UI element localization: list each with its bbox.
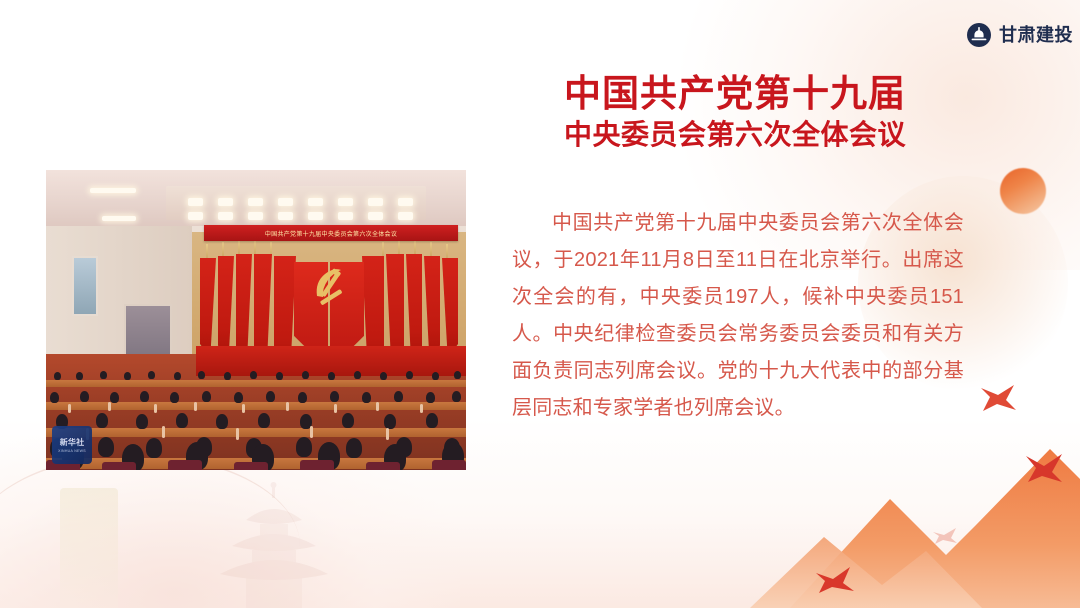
body-paragraph: 中国共产党第十九届中央委员会第六次全体会议，于2021年11月8日至11日在北京… <box>512 205 964 427</box>
meeting-photograph: 中国共产党第十九届中央委员会第六次全体会议 <box>46 170 466 470</box>
photo-wall-screen <box>72 256 98 316</box>
slide-title: 中国共产党第十九届 中央委员会第六次全体会议 <box>500 72 970 152</box>
origami-bird-icon <box>932 527 958 550</box>
origami-bird-icon <box>978 382 1018 419</box>
xinhua-news-watermark: 新华社 XINHUA NEWS <box>52 426 92 464</box>
photo-stage-banner: 中国共产党第十九届中央委员会第六次全体会议 <box>204 225 458 241</box>
photo-ceiling-panel <box>166 186 426 220</box>
origami-bird-icon <box>1022 452 1066 491</box>
watermark-english-label: XINHUA NEWS <box>58 449 86 453</box>
ganjiantou-circle-logo-icon <box>966 22 992 48</box>
presentation-slide: 甘肃建投 <box>0 0 1080 608</box>
hammer-and-sickle-emblem-icon <box>308 262 350 306</box>
pillar-watermark-decoration <box>60 488 118 608</box>
origami-bird-icon <box>814 565 856 600</box>
brand-logo[interactable]: 甘肃建投 <box>966 22 1073 48</box>
title-line-one: 中国共产党第十九届 <box>500 72 970 116</box>
sun-circle-icon <box>1000 168 1046 214</box>
title-line-two: 中央委员会第六次全体会议 <box>500 118 970 152</box>
watermark-chinese-label: 新华社 <box>60 437 85 448</box>
brand-logo-text: 甘肃建投 <box>999 26 1073 44</box>
